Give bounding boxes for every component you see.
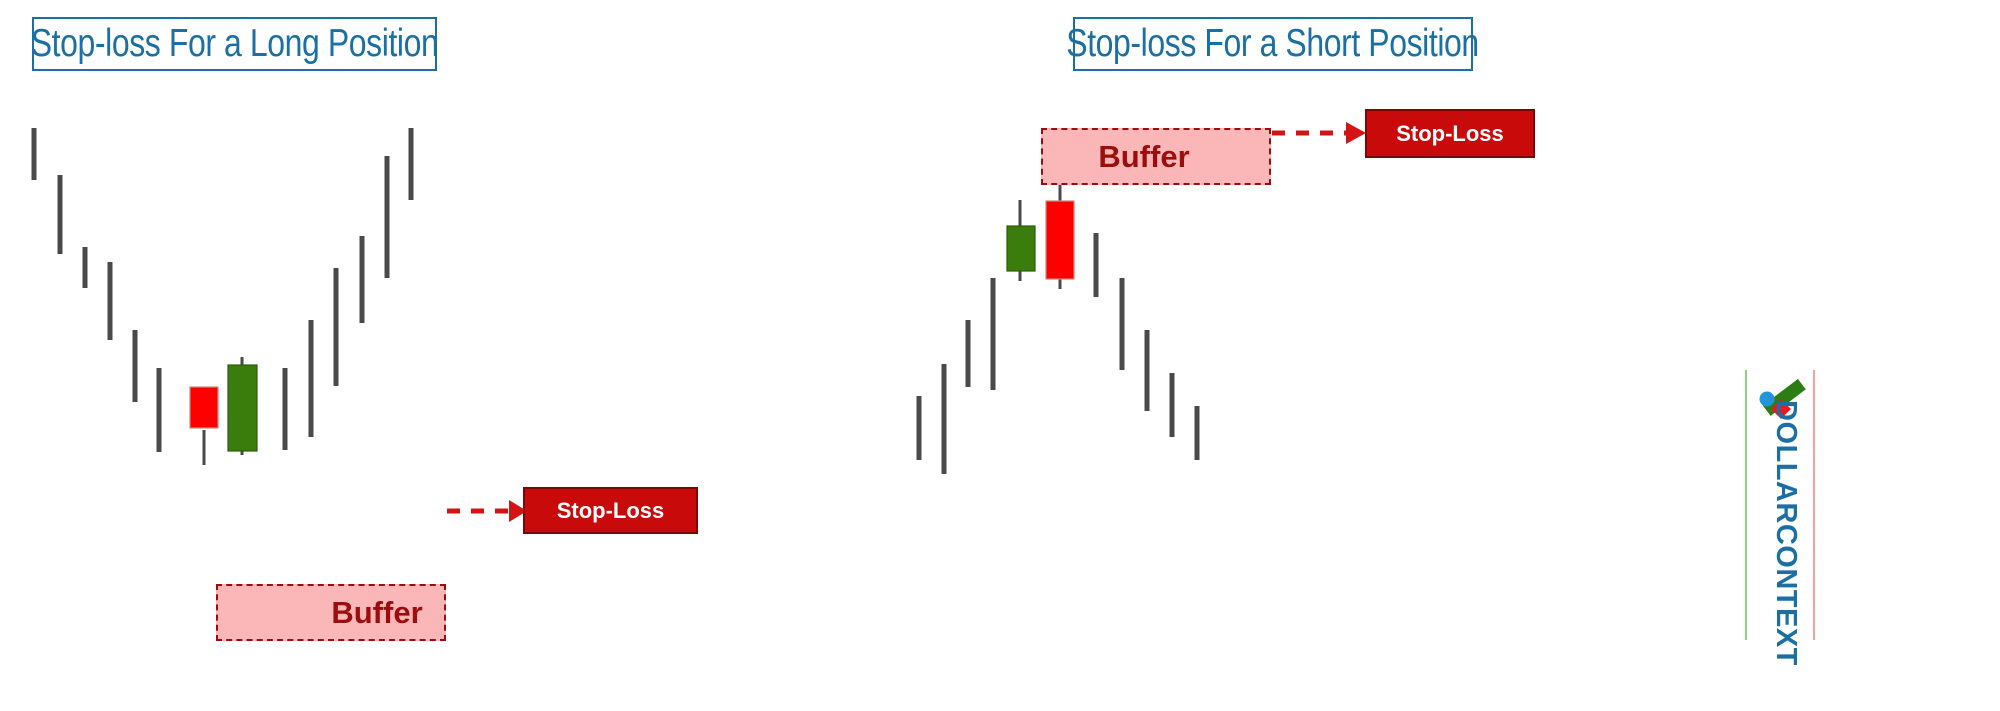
- logo-rule-pink: [1813, 370, 1815, 640]
- title-box-long-position: Stop-loss For a Long Position: [32, 17, 437, 71]
- buffer-zone-long: Buffer: [216, 584, 446, 641]
- panel-long-position: Stop-loss For a Long Position Buffer Sto…: [0, 0, 1000, 711]
- stop-loss-label-short: Stop-Loss: [1396, 121, 1504, 147]
- logo-wordmark: DOLLARCONTEXT: [1768, 400, 1802, 610]
- stop-loss-label-long: Stop-Loss: [557, 498, 665, 524]
- stop-loss-box-long: Stop-Loss: [523, 487, 698, 534]
- panel-short-position: Stop-loss For a Short Position Buffer St…: [1000, 0, 2000, 711]
- title-text-long-position: Stop-loss For a Long Position: [31, 22, 439, 66]
- title-box-short-position: Stop-loss For a Short Position: [1073, 17, 1473, 71]
- stop-loss-box-short: Stop-Loss: [1365, 109, 1535, 158]
- buffer-label-short: Buffer: [1098, 139, 1189, 175]
- title-text-short-position: Stop-loss For a Short Position: [1067, 22, 1480, 66]
- buffer-zone-short: Buffer: [1041, 128, 1271, 185]
- buffer-label-long: Buffer: [331, 595, 422, 631]
- logo-rule-green: [1745, 370, 1747, 640]
- dollarcontext-logo: DOLLARCONTEXT: [1735, 370, 1830, 640]
